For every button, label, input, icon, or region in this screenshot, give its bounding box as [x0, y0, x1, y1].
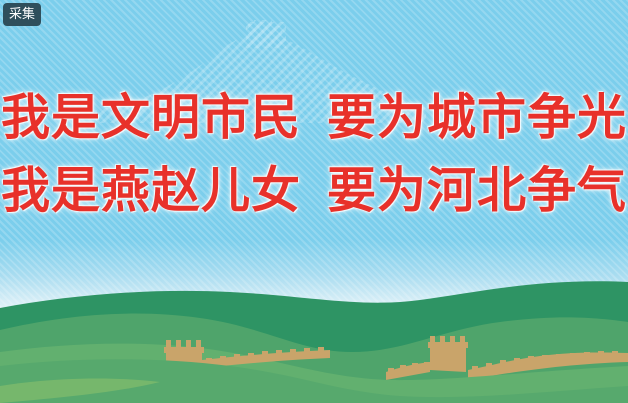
slogan-line-2-left: 我是燕赵儿女: [1, 162, 301, 219]
slogan-line-1-left: 我是文明市民: [1, 89, 301, 146]
poster-banner: 我是文明市民要为城市争光 我是燕赵儿女要为河北争气 采集: [0, 0, 628, 403]
slogan-line-1: 我是文明市民要为城市争光: [0, 93, 628, 142]
slogan-text-block: 我是文明市民要为城市争光 我是燕赵儿女要为河北争气: [0, 93, 628, 215]
capture-badge[interactable]: 采集: [3, 3, 41, 26]
slogan-line-2-right: 要为河北争气: [327, 162, 627, 219]
slogan-line-1-right: 要为城市争光: [327, 89, 627, 146]
slogan-line-2: 我是燕赵儿女要为河北争气: [0, 166, 628, 215]
